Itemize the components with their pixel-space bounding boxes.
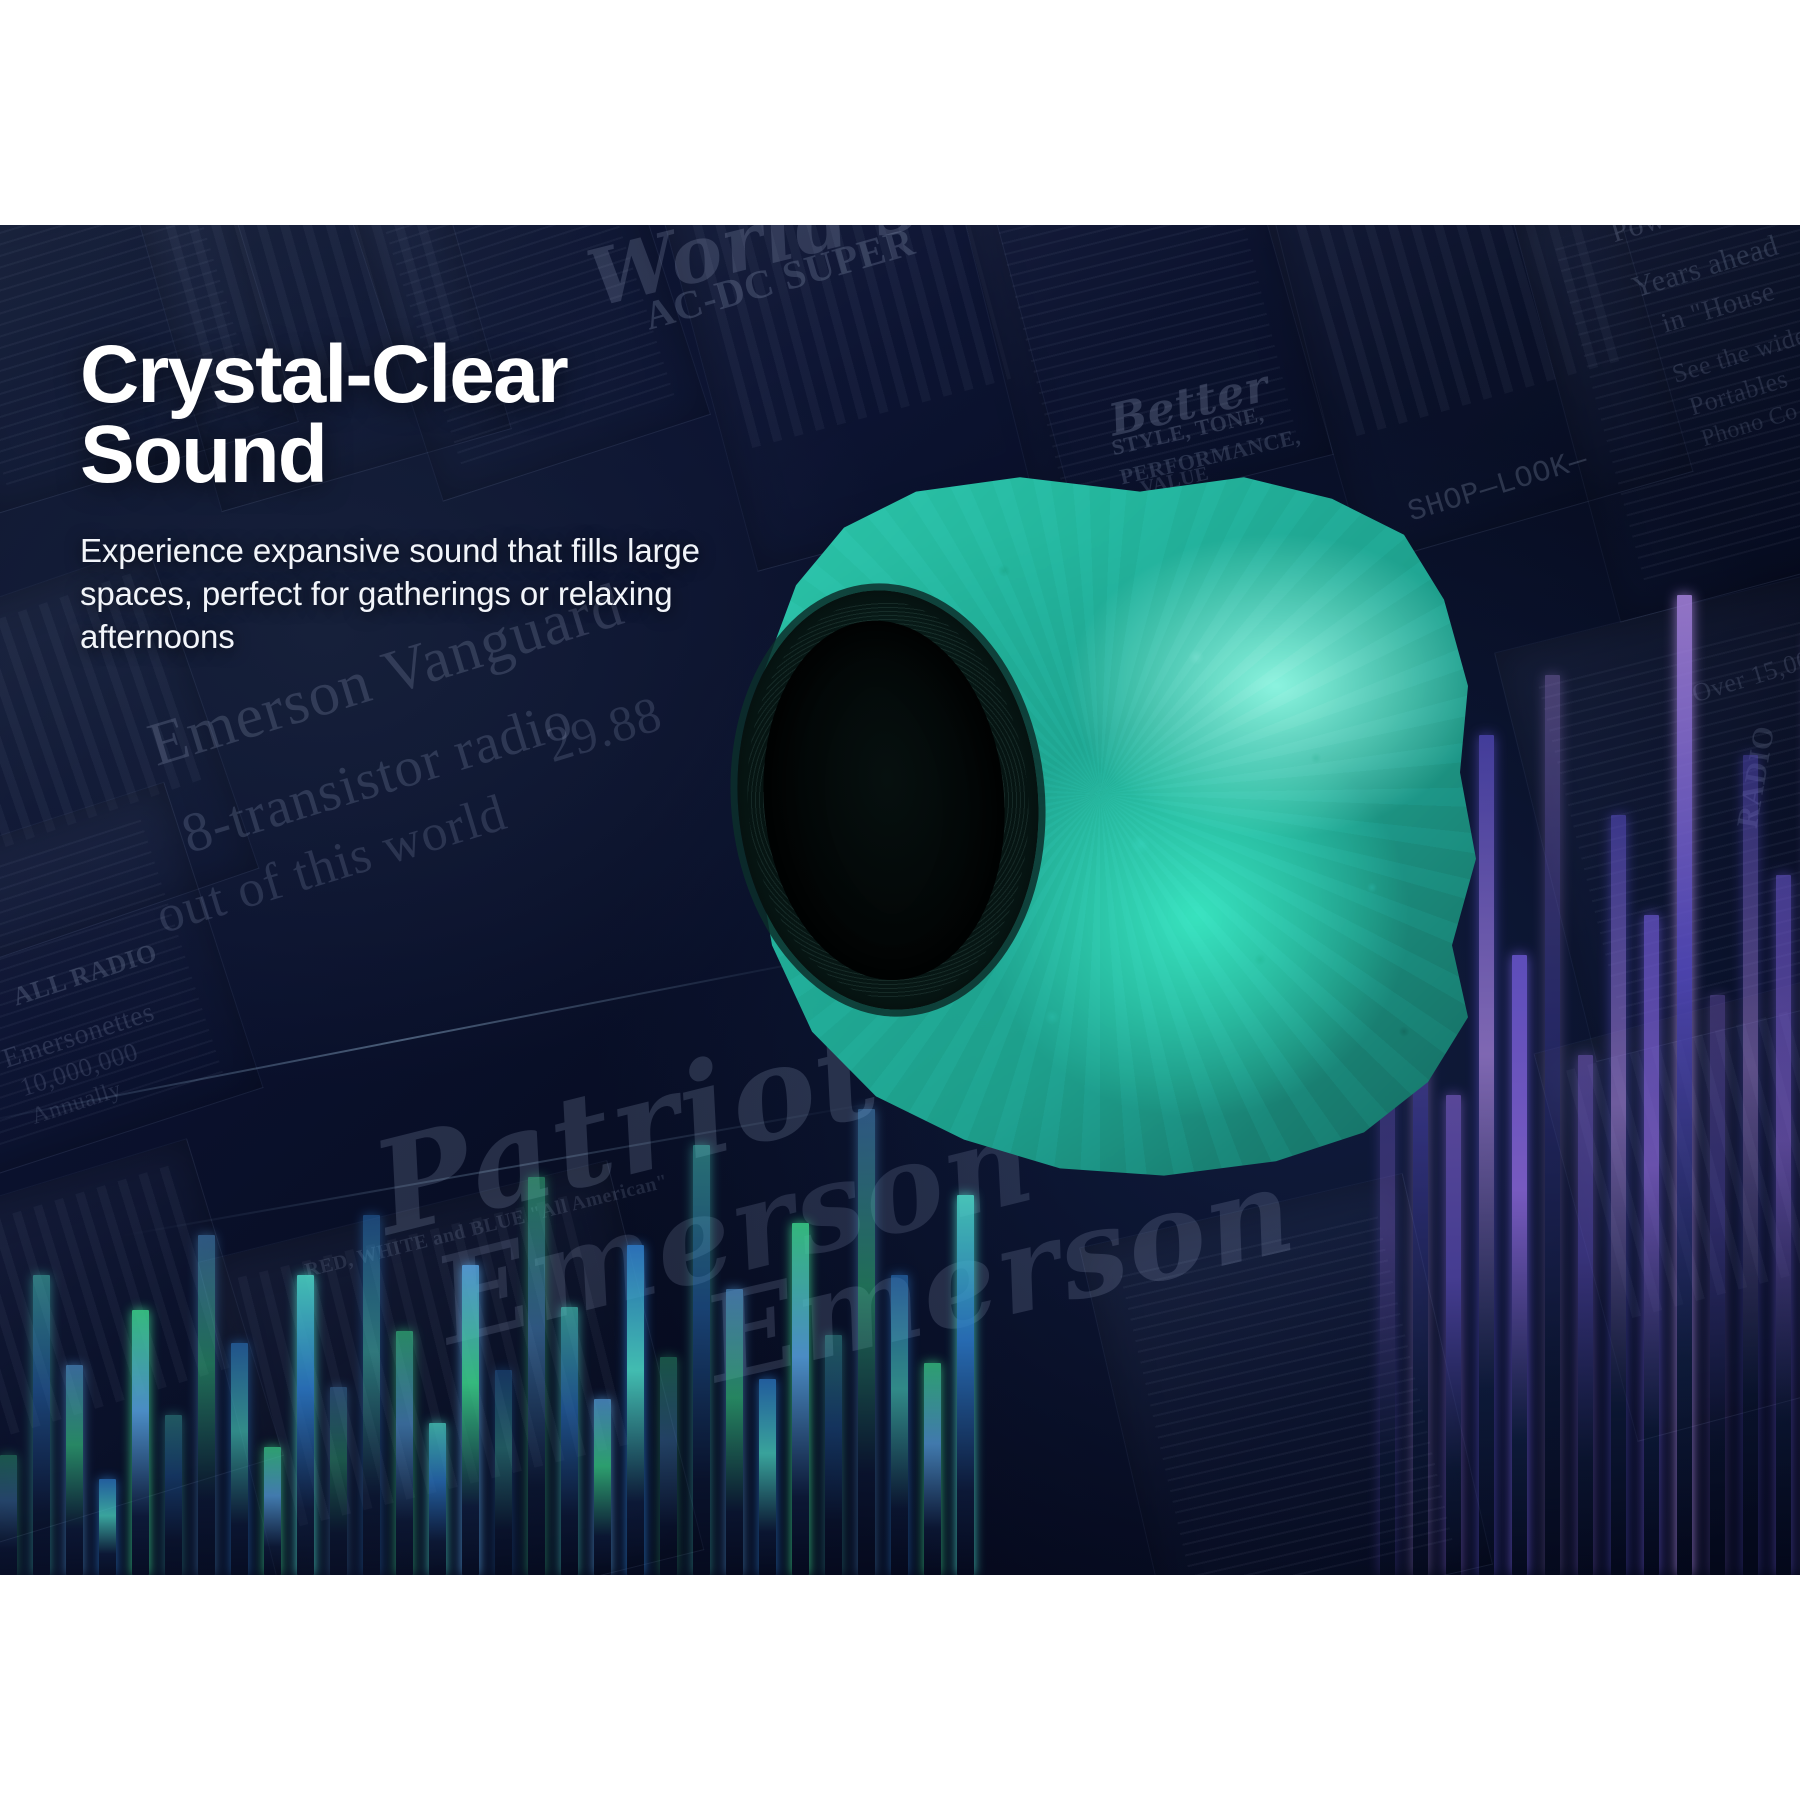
watermark-text: Portables — [1686, 364, 1792, 422]
equalizer-bar — [825, 1335, 842, 1575]
equalizer-bars-left — [0, 815, 780, 1575]
hero-copy-block: Crystal-Clear Sound Experience expansive… — [80, 335, 740, 658]
equalizer-bar — [594, 1399, 611, 1575]
equalizer-bar — [165, 1415, 182, 1575]
equalizer-bar — [1644, 915, 1659, 1575]
equalizer-bar — [297, 1275, 314, 1575]
equalizer-bar — [1545, 675, 1560, 1575]
equalizer-bar — [99, 1479, 116, 1575]
equalizer-bar — [759, 1379, 776, 1575]
equalizer-bar — [1578, 1055, 1593, 1575]
equalizer-bar — [33, 1275, 50, 1575]
hero-subcopy: Experience expansive sound that fills la… — [80, 530, 740, 659]
equalizer-bar — [561, 1307, 578, 1575]
equalizer-bar — [891, 1275, 908, 1575]
equalizer-bar — [660, 1357, 677, 1575]
equalizer-bar — [231, 1343, 248, 1575]
equalizer-bar — [792, 1223, 809, 1575]
equalizer-bar — [495, 1370, 512, 1575]
equalizer-bar — [132, 1310, 149, 1575]
equalizer-bar — [264, 1447, 281, 1575]
equalizer-bar — [330, 1387, 347, 1575]
watermark-text: Better — [1104, 360, 1274, 446]
watermark-text: See the wide — [1669, 320, 1800, 389]
watermark-text: STYLE, TONE, — [1109, 401, 1266, 461]
equalizer-bar — [528, 1177, 545, 1575]
equalizer-bar — [627, 1245, 644, 1575]
equalizer-bar — [0, 1455, 17, 1575]
equalizer-bar — [66, 1365, 83, 1575]
watermark-text: 29.88 — [539, 684, 668, 774]
equalizer-bar — [396, 1331, 413, 1575]
equalizer-bar — [726, 1289, 743, 1575]
equalizer-bar — [1512, 955, 1527, 1575]
equalizer-bar — [1776, 875, 1791, 1575]
watermark-text: AC-DC SUPER — [639, 225, 920, 340]
equalizer-bar — [363, 1215, 380, 1575]
watermark-text: in "House — [1658, 276, 1779, 341]
equalizer-bar — [462, 1265, 479, 1575]
watermark-text: Years ahead — [1628, 229, 1782, 306]
product-speaker — [700, 470, 1500, 1190]
equalizer-bar — [1710, 995, 1725, 1575]
watermark-text: World's — [579, 225, 928, 325]
equalizer-bar — [429, 1423, 446, 1575]
marketing-banner-page: World'sAC-DC SUPERBetterSTYLE, TONE,PERF… — [0, 0, 1800, 1800]
page-title: Crystal-Clear Sound — [80, 335, 740, 496]
equalizer-bar — [693, 1145, 710, 1575]
watermark-text: Power — [1607, 225, 1693, 250]
watermark-text: Phono Co — [1698, 398, 1800, 453]
equalizer-bar — [924, 1363, 941, 1575]
equalizer-bar — [1611, 815, 1626, 1575]
hero-banner: World'sAC-DC SUPERBetterSTYLE, TONE,PERF… — [0, 225, 1800, 1575]
equalizer-bar — [1743, 755, 1758, 1575]
equalizer-bar — [1677, 595, 1692, 1575]
equalizer-bar — [957, 1195, 974, 1575]
equalizer-bar — [198, 1235, 215, 1575]
